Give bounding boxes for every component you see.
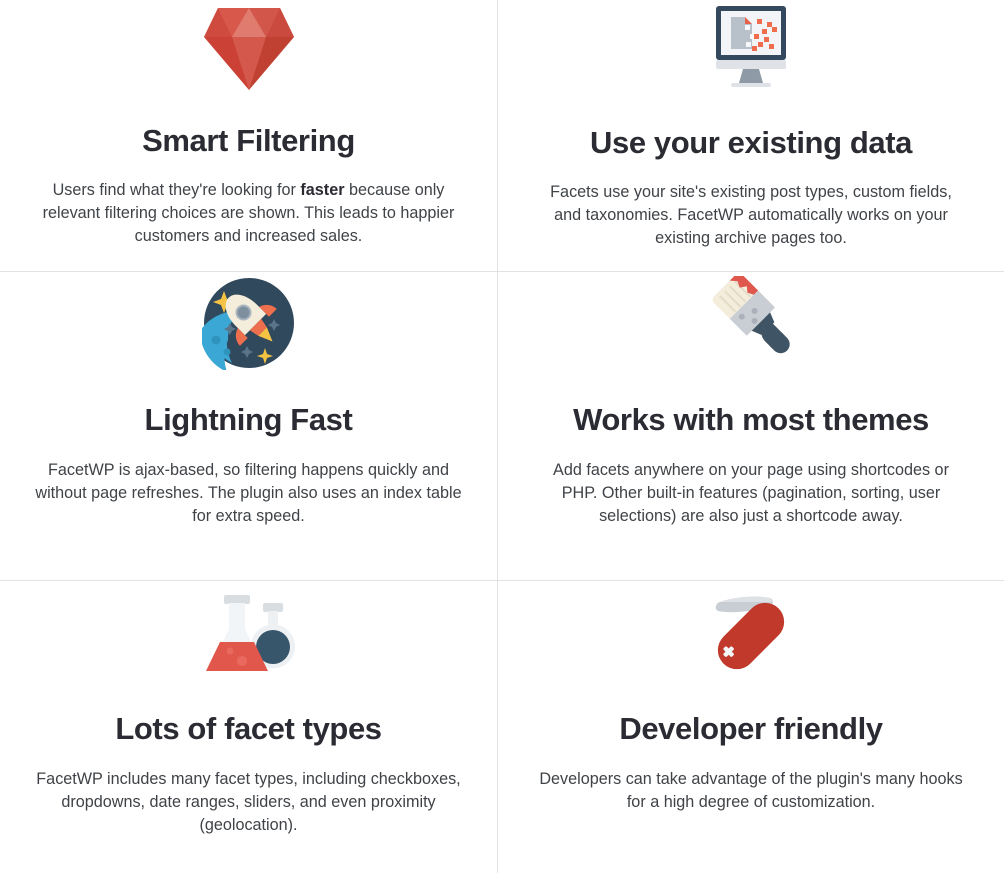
lab-flasks-icon — [202, 585, 296, 679]
feature-card-works-with-themes: Works with most themes Add facets anywhe… — [498, 272, 1004, 580]
feature-title: Lots of facet types — [115, 711, 381, 748]
swiss-army-knife-icon — [704, 585, 798, 679]
feature-description: FacetWP is ajax-based, so filtering happ… — [34, 459, 464, 528]
feature-description: FacetWP includes many facet types, inclu… — [34, 768, 464, 837]
feature-card-developer-friendly: Developer friendly Developers can take a… — [498, 581, 1004, 873]
desc-emphasis: faster — [300, 181, 344, 199]
feature-title: Smart Filtering — [142, 123, 355, 160]
feature-description: Developers can take advantage of the plu… — [536, 768, 966, 814]
ruby-gem-icon — [202, 4, 296, 92]
paintbrush-icon — [704, 276, 798, 370]
feature-card-smart-filtering: Smart Filtering Users find what they're … — [0, 0, 497, 271]
desc-part-before: Users find what they're looking for — [53, 181, 301, 199]
feature-title: Developer friendly — [619, 711, 882, 748]
feature-description: Users find what they're looking for fast… — [34, 179, 464, 248]
feature-description: Facets use your site's existing post typ… — [536, 181, 966, 250]
feature-card-lightning-fast: Lightning Fast FacetWP is ajax-based, so… — [0, 272, 497, 580]
rocket-planet-icon — [202, 276, 296, 370]
feature-title: Works with most themes — [573, 402, 929, 439]
desktop-monitor-data-icon — [705, 4, 797, 94]
feature-title: Lightning Fast — [145, 402, 353, 439]
feature-title: Use your existing data — [590, 125, 912, 162]
features-grid: Smart Filtering Users find what they're … — [0, 0, 1004, 873]
feature-card-existing-data: Use your existing data Facets use your s… — [498, 0, 1004, 271]
feature-description: Add facets anywhere on your page using s… — [536, 459, 966, 528]
feature-card-facet-types: Lots of facet types FacetWP includes man… — [0, 581, 497, 873]
